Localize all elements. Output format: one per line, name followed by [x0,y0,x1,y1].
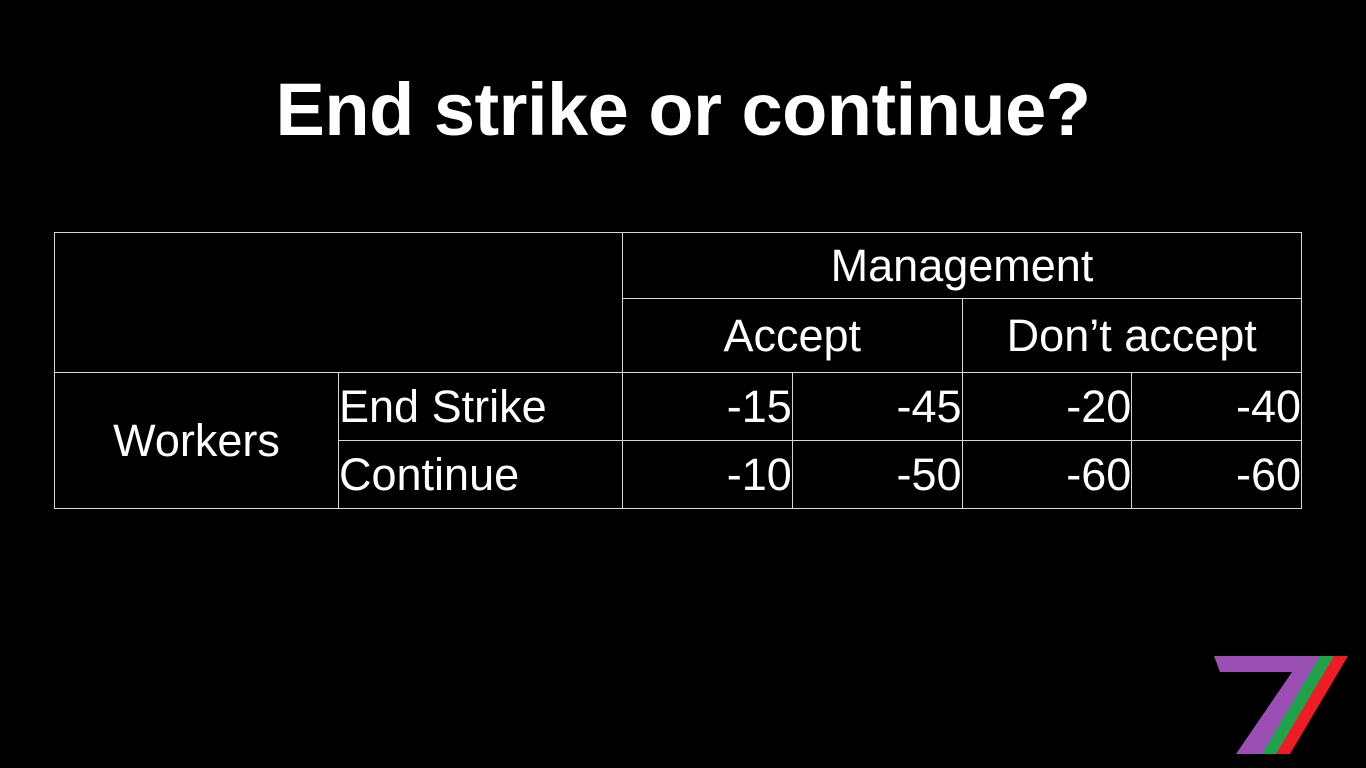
row-strategy-end-strike: End Strike [339,373,623,441]
payoff-continue-dont-accept-col: -60 [1132,441,1302,509]
page-title: End strike or continue? [0,62,1366,158]
payoff-continue-dont-accept-row: -60 [962,441,1132,509]
column-player-header: Management [623,233,1302,299]
payoff-end-strike-dont-accept-col: -40 [1132,373,1302,441]
column-strategy-accept: Accept [623,299,963,373]
matrix-corner-blank [55,233,623,373]
column-strategy-dont-accept: Don’t accept [962,299,1302,373]
row-player-header: Workers [55,373,339,509]
table-row: Workers End Strike -15 -45 -20 -40 [55,373,1302,441]
payoff-end-strike-dont-accept-row: -20 [962,373,1132,441]
payoff-matrix: Management Accept Don’t accept Workers E… [54,232,1302,509]
table-row-header-group: Management [55,233,1302,299]
payoff-end-strike-accept-row: -15 [623,373,793,441]
payoff-end-strike-accept-col: -45 [792,373,962,441]
seven-chevron-logo-icon [1198,648,1354,762]
row-strategy-continue: Continue [339,441,623,509]
payoff-continue-accept-col: -50 [792,441,962,509]
payoff-continue-accept-row: -10 [623,441,793,509]
